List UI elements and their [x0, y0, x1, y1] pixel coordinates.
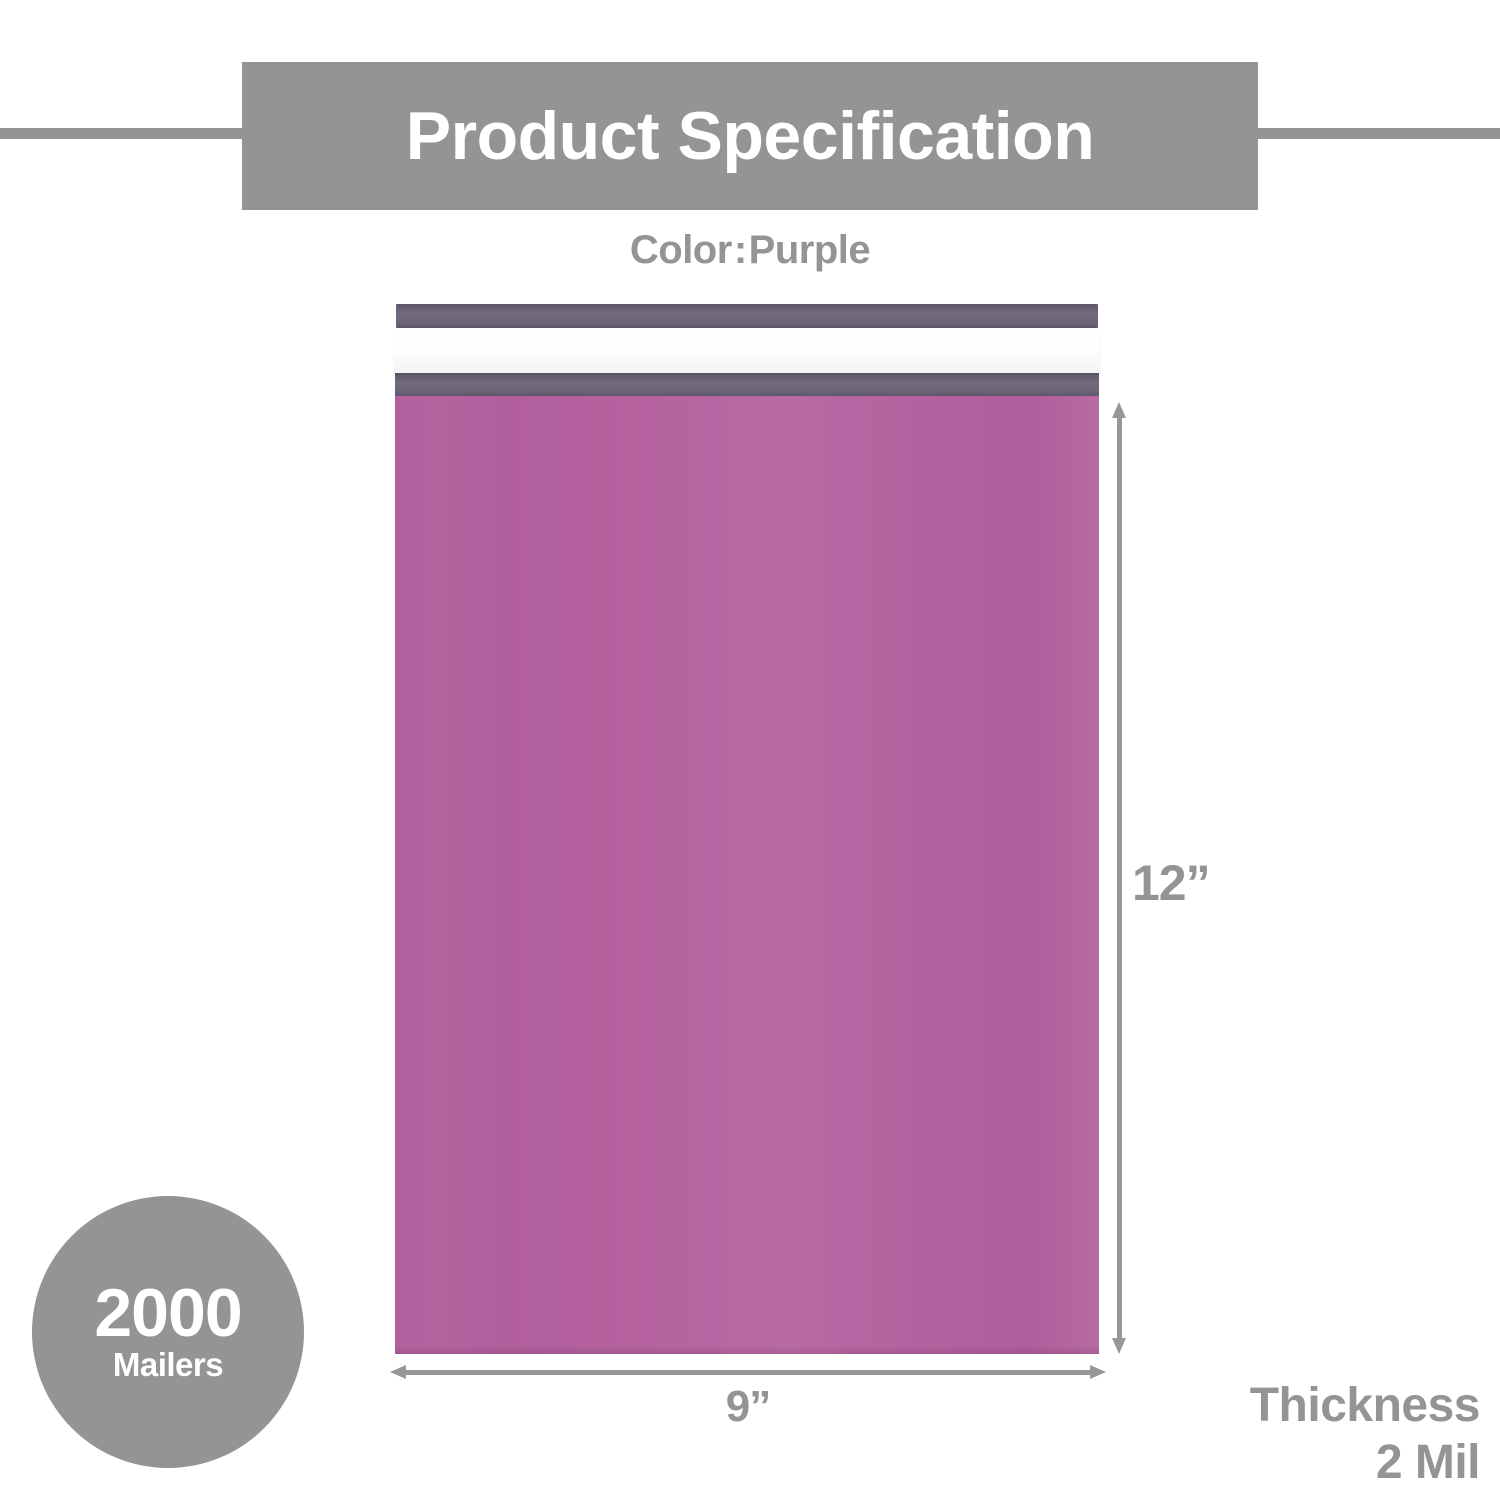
width-dimension-label: 9” — [390, 1382, 1106, 1432]
quantity-count: 2000 — [94, 1281, 241, 1346]
color-spec-value: Purple — [749, 228, 870, 272]
quantity-badge: 2000 Mailers — [32, 1196, 304, 1468]
bag-body — [395, 396, 1099, 1354]
color-spec-label: Color — [630, 228, 732, 272]
height-dimension-label: 12” — [1132, 854, 1210, 912]
arrow-down-icon — [1112, 1338, 1126, 1354]
height-dimension-arrow — [1112, 402, 1126, 1354]
thickness-block: Thickness 2 Mil — [1250, 1378, 1480, 1491]
width-dimension-arrow — [390, 1365, 1106, 1379]
color-spec-line: Color:Purple — [0, 228, 1500, 273]
thickness-label: Thickness — [1250, 1378, 1480, 1435]
bag-adhesive-seal-strip — [394, 329, 1100, 373]
bag-seal-lower-strip — [395, 373, 1099, 396]
header-banner: Product Specification — [242, 62, 1258, 210]
dimension-shaft — [1117, 412, 1122, 1344]
mailer-bag-illustration — [394, 302, 1100, 1354]
dimension-shaft — [400, 1370, 1096, 1375]
bag-top-edge-strip — [396, 304, 1098, 328]
product-specification-page: Product Specification Color:Purple 12” 9… — [0, 0, 1500, 1500]
color-spec-separator: : — [732, 228, 749, 272]
page-title: Product Specification — [406, 102, 1095, 170]
arrow-right-icon — [1090, 1365, 1106, 1379]
thickness-value: 2 Mil — [1250, 1435, 1480, 1492]
quantity-unit: Mailers — [113, 1347, 223, 1383]
